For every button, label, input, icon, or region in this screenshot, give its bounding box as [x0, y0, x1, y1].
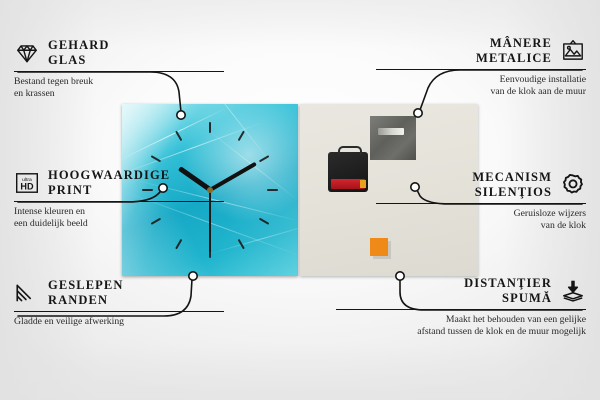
callout-description: Geruisloze wijzers [376, 208, 586, 220]
gear-icon [560, 172, 586, 198]
callout-title: GESLEPEN [48, 278, 124, 293]
callout-divider [376, 203, 586, 204]
callout-manere-metalice: MÂNERE METALICE Eenvoudige installatie v… [376, 36, 586, 98]
ultra-hd-icon: ultra HD [14, 170, 40, 196]
callout-title: MÂNERE [476, 36, 552, 51]
callout-description-line2: van de klok [376, 220, 586, 232]
callout-divider [14, 201, 224, 202]
callout-divider [14, 311, 224, 312]
node-gehard-glas [177, 111, 185, 119]
callout-description-line2: afstand tussen de klok en de muur mogeli… [336, 326, 586, 338]
callout-title-line2: PRINT [48, 183, 170, 198]
callout-title-line2: GLAS [48, 53, 109, 68]
callout-title: DISTANŢIER [464, 276, 552, 291]
callout-gehard-glas: GEHARD GLAS Bestand tegen breuk en krass… [14, 38, 224, 100]
callout-description: Bestand tegen breuk [14, 76, 224, 88]
callout-description-line2: een duidelijk beeld [14, 218, 224, 230]
node-manere-metalice [414, 109, 422, 117]
callout-description-line2: van de klok aan de muur [376, 86, 586, 98]
callout-description-line2: en krassen [14, 88, 224, 100]
callout-description: Gladde en veilige afwerking [14, 316, 224, 328]
callout-divider [14, 71, 224, 72]
diamond-icon [14, 40, 40, 66]
callout-geslepen-randen: GESLEPEN RANDEN Gladde en veilige afwerk… [14, 278, 224, 328]
callout-title-line2: RANDEN [48, 293, 124, 308]
ultra-hd-icon-large-text: HD [20, 182, 34, 192]
callout-title: GEHARD [48, 38, 109, 53]
callout-title-line2: METALICE [476, 51, 552, 66]
callout-divider [376, 69, 586, 70]
callout-distantier-spuma: DISTANŢIER SPUMĂ Maakt het behouden van … [336, 276, 586, 338]
beveled-edges-icon [14, 280, 40, 306]
foam-spacer-icon [560, 278, 586, 304]
infographic-canvas: GEHARD GLAS Bestand tegen breuk en krass… [0, 0, 600, 400]
callout-hoogwaardige-print: ultra HD HOOGWAARDIGE PRINT Intense kleu… [14, 168, 224, 230]
callout-title: HOOGWAARDIGE [48, 168, 170, 183]
callout-title-line2: SILENŢIOS [472, 185, 552, 200]
callout-description: Maakt het behouden van een gelijke [336, 314, 586, 326]
callout-mecanism-silentios: MECANISM SILENŢIOS Geruisloze wijzers va… [376, 170, 586, 232]
picture-hanger-icon [560, 38, 586, 64]
callout-divider [336, 309, 586, 310]
callout-description: Intense kleuren en [14, 206, 224, 218]
callout-title: MECANISM [472, 170, 552, 185]
callout-title-line2: SPUMĂ [464, 291, 552, 306]
callout-description: Eenvoudige installatie [376, 74, 586, 86]
